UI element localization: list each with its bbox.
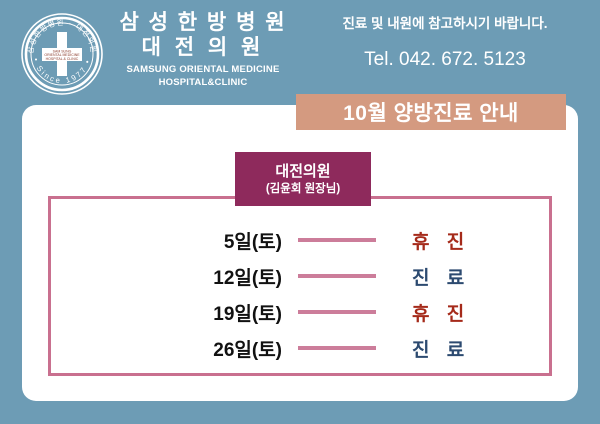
hospital-seal-icon: 삼성한방병원 · 대전의원 • Since 1977 • SAM SUNG OR… (20, 12, 104, 96)
schedule-list: 5일(토)휴 진12일(토)진 료19일(토)휴 진26일(토)진 료 (48, 214, 552, 374)
schedule-status: 휴 진 (376, 299, 552, 326)
title-banner: 10월 양방진료 안내 (296, 94, 566, 130)
brand-logo-block: 삼성한방병원 · 대전의원 • Since 1977 • SAM SUNG OR… (12, 6, 292, 102)
schedule-separator-dash (298, 238, 376, 242)
brand-text-block: 삼 성 한 방 병 원 대 전 의 원 SAMSUNG ORIENTAL MED… (108, 10, 298, 89)
schedule-date: 26일(토) (48, 335, 298, 362)
brand-korean-line-1: 삼 성 한 방 병 원 (108, 10, 298, 35)
notice-text: 진료 및 내원에 참고하시기 바랍니다. (300, 14, 590, 34)
brand-korean-line-2: 대 전 의 원 (108, 35, 298, 60)
brand-english-line-1: SAMSUNG ORIENTAL MEDICINE (108, 63, 298, 76)
poster-header: 삼성한방병원 · 대전의원 • Since 1977 • SAM SUNG OR… (0, 0, 600, 105)
schedule-row: 26일(토)진 료 (48, 330, 552, 366)
schedule-separator-dash (298, 274, 376, 278)
schedule-date: 5일(토) (48, 227, 298, 254)
schedule-row: 12일(토)진 료 (48, 258, 552, 294)
clinic-header-box: 대전의원 (김윤회 원장님) (235, 152, 371, 206)
schedule-status: 진 료 (376, 335, 552, 362)
clinic-doctor-label: (김윤회 원장님) (266, 181, 340, 197)
schedule-row: 5일(토)휴 진 (48, 222, 552, 258)
schedule-separator-dash (298, 346, 376, 350)
header-notice-block: 진료 및 내원에 참고하시기 바랍니다. Tel. 042. 672. 5123 (300, 14, 590, 74)
schedule-row: 19일(토)휴 진 (48, 294, 552, 330)
svg-text:HOSPITAL & CLINIC: HOSPITAL & CLINIC (46, 57, 79, 61)
schedule-separator-dash (298, 310, 376, 314)
schedule-status: 진 료 (376, 263, 552, 290)
schedule-status: 휴 진 (376, 227, 552, 254)
clinic-schedule-poster: 삼성한방병원 · 대전의원 • Since 1977 • SAM SUNG OR… (0, 0, 600, 424)
schedule-date: 12일(토) (48, 263, 298, 290)
clinic-name-label: 대전의원 (275, 162, 330, 181)
schedule-date: 19일(토) (48, 299, 298, 326)
telephone-text: Tel. 042. 672. 5123 (300, 46, 590, 74)
title-banner-label: 10월 양방진료 안내 (343, 97, 519, 127)
brand-english-line-2: HOSPITAL&CLINIC (108, 76, 298, 89)
